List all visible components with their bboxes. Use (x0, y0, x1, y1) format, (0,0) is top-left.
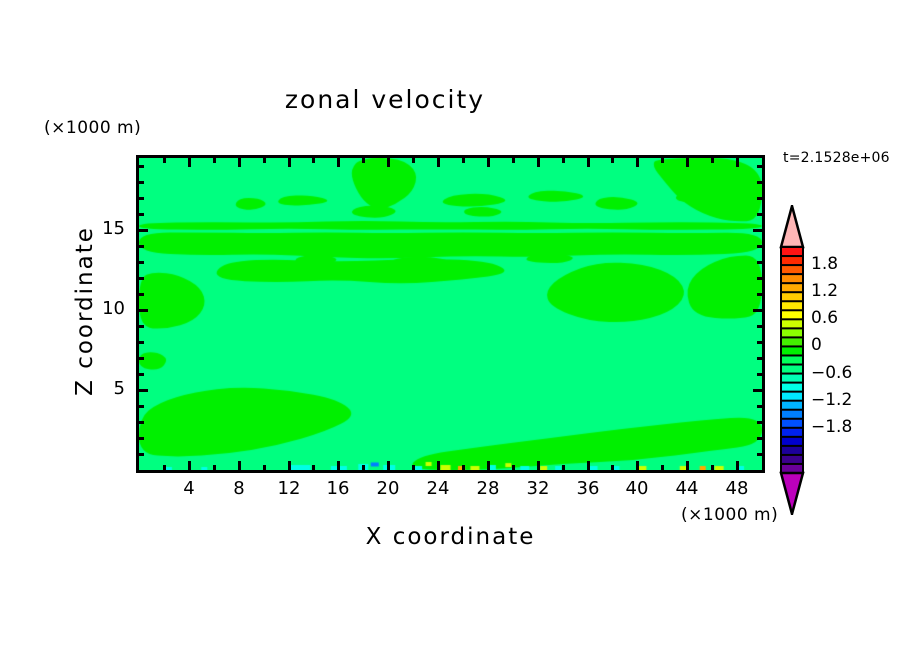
colorbar-band (781, 383, 803, 392)
y-major-tick (753, 389, 762, 392)
x-axis-unit-label: (×1000 m) (681, 505, 778, 525)
contour-plot-area (136, 155, 765, 473)
y-major-tick (753, 229, 762, 232)
y-minor-tick (139, 213, 144, 216)
y-minor-tick (757, 325, 762, 328)
colorbar-tick-label: −1.2 (811, 390, 852, 410)
x-major-tick (288, 461, 291, 470)
x-major-tick (238, 158, 241, 167)
colorbar-band (781, 346, 803, 355)
x-tick-label: 8 (214, 478, 264, 499)
y-minor-tick (139, 261, 144, 264)
colorbar-band (781, 265, 803, 274)
colorbar-tick-label: 0.6 (811, 308, 838, 328)
x-minor-tick (462, 465, 465, 470)
x-minor-tick (362, 158, 365, 163)
colorbar-band (781, 310, 803, 319)
y-minor-tick (139, 245, 144, 248)
y-minor-tick (757, 437, 762, 440)
y-minor-tick (139, 165, 144, 168)
x-minor-tick (163, 465, 166, 470)
x-tick-label: 12 (264, 478, 314, 499)
x-tick-label: 48 (712, 478, 762, 499)
colorbar-band (781, 410, 803, 419)
x-minor-tick (362, 465, 365, 470)
x-major-tick (387, 461, 390, 470)
x-major-tick (686, 158, 689, 167)
x-major-tick (238, 461, 241, 470)
colorbar-tick-label: 1.2 (811, 281, 838, 301)
y-minor-tick (757, 261, 762, 264)
colorbar-band (781, 274, 803, 283)
x-major-tick (188, 461, 191, 470)
colorbar-tick-label: −1.8 (811, 417, 852, 437)
x-major-tick (487, 461, 490, 470)
x-minor-tick (611, 465, 614, 470)
colorbar-band (781, 328, 803, 337)
y-minor-tick (757, 277, 762, 280)
x-minor-tick (562, 465, 565, 470)
y-minor-tick (757, 405, 762, 408)
colorbar-over-cap (781, 206, 803, 247)
x-minor-tick (711, 465, 714, 470)
colorbar-band (781, 256, 803, 265)
x-major-tick (487, 158, 490, 167)
x-major-tick (587, 461, 590, 470)
colorbar-band (781, 247, 803, 256)
y-minor-tick (757, 181, 762, 184)
colorbar-band (781, 283, 803, 292)
contour-field-canvas (139, 158, 762, 470)
x-tick-label: 24 (413, 478, 463, 499)
x-major-tick (537, 158, 540, 167)
colorbar-tick-label: 0 (811, 335, 822, 355)
x-minor-tick (462, 158, 465, 163)
colorbar-band (781, 446, 803, 455)
y-minor-tick (757, 421, 762, 424)
y-minor-tick (757, 197, 762, 200)
x-major-tick (437, 461, 440, 470)
y-minor-tick (139, 293, 144, 296)
y-minor-tick (757, 245, 762, 248)
y-minor-tick (757, 373, 762, 376)
x-minor-tick (512, 158, 515, 163)
x-minor-tick (661, 158, 664, 163)
y-major-tick (139, 389, 148, 392)
x-minor-tick (263, 465, 266, 470)
x-major-tick (736, 158, 739, 167)
x-minor-tick (512, 465, 515, 470)
y-minor-tick (757, 357, 762, 360)
x-tick-label: 4 (164, 478, 214, 499)
x-minor-tick (213, 465, 216, 470)
y-minor-tick (757, 165, 762, 168)
x-minor-tick (163, 158, 166, 163)
colorbar-band (781, 392, 803, 401)
colorbar-band (781, 292, 803, 301)
x-tick-label: 40 (612, 478, 662, 499)
y-axis-title: Z coordinate (72, 171, 98, 451)
y-minor-tick (139, 357, 144, 360)
x-minor-tick (412, 158, 415, 163)
x-major-tick (288, 158, 291, 167)
colorbar-gradient (779, 205, 805, 515)
y-minor-tick (139, 181, 144, 184)
x-tick-label: 28 (463, 478, 513, 499)
y-major-tick (139, 309, 148, 312)
colorbar-under-cap (781, 473, 803, 514)
x-minor-tick (711, 158, 714, 163)
colorbar-band (781, 301, 803, 310)
y-minor-tick (139, 277, 144, 280)
y-minor-tick (757, 213, 762, 216)
y-minor-tick (757, 293, 762, 296)
y-minor-tick (139, 453, 144, 456)
colorbar-band (781, 428, 803, 437)
x-minor-tick (312, 465, 315, 470)
colorbar-band (781, 401, 803, 410)
x-minor-tick (412, 465, 415, 470)
y-minor-tick (139, 437, 144, 440)
x-major-tick (587, 158, 590, 167)
colorbar-band (781, 374, 803, 383)
y-minor-tick (139, 405, 144, 408)
x-minor-tick (562, 158, 565, 163)
colorbar-band (781, 455, 803, 464)
x-major-tick (636, 158, 639, 167)
colorbar-band (781, 437, 803, 446)
x-minor-tick (312, 158, 315, 163)
page-title: zonal velocity (0, 85, 770, 114)
y-minor-tick (139, 341, 144, 344)
y-axis-unit-label: (×1000 m) (44, 118, 141, 138)
timestamp-annotation: t=2.1528e+06 (783, 150, 890, 166)
colorbar-band (781, 355, 803, 364)
x-major-tick (188, 158, 191, 167)
colorbar-band (781, 419, 803, 428)
colorbar-band (781, 365, 803, 374)
y-minor-tick (139, 373, 144, 376)
x-tick-label: 32 (513, 478, 563, 499)
y-minor-tick (139, 325, 144, 328)
y-major-tick (139, 229, 148, 232)
x-major-tick (387, 158, 390, 167)
colorbar-tick-label: −0.6 (811, 363, 852, 383)
x-axis-title: X coordinate (136, 524, 765, 550)
x-tick-label: 16 (313, 478, 363, 499)
x-major-tick (337, 158, 340, 167)
y-minor-tick (757, 453, 762, 456)
colorbar (779, 205, 805, 515)
y-minor-tick (757, 341, 762, 344)
x-minor-tick (611, 158, 614, 163)
y-minor-tick (139, 421, 144, 424)
x-major-tick (437, 158, 440, 167)
y-minor-tick (139, 197, 144, 200)
colorbar-band (781, 319, 803, 328)
x-minor-tick (213, 158, 216, 163)
x-major-tick (736, 461, 739, 470)
x-tick-label: 36 (563, 478, 613, 499)
x-major-tick (337, 461, 340, 470)
x-minor-tick (661, 465, 664, 470)
x-tick-label: 44 (662, 478, 712, 499)
x-minor-tick (263, 158, 266, 163)
colorbar-tick-label: 1.8 (811, 254, 838, 274)
colorbar-band (781, 337, 803, 346)
x-tick-label: 20 (363, 478, 413, 499)
x-major-tick (686, 461, 689, 470)
x-major-tick (537, 461, 540, 470)
x-major-tick (636, 461, 639, 470)
y-major-tick (753, 309, 762, 312)
